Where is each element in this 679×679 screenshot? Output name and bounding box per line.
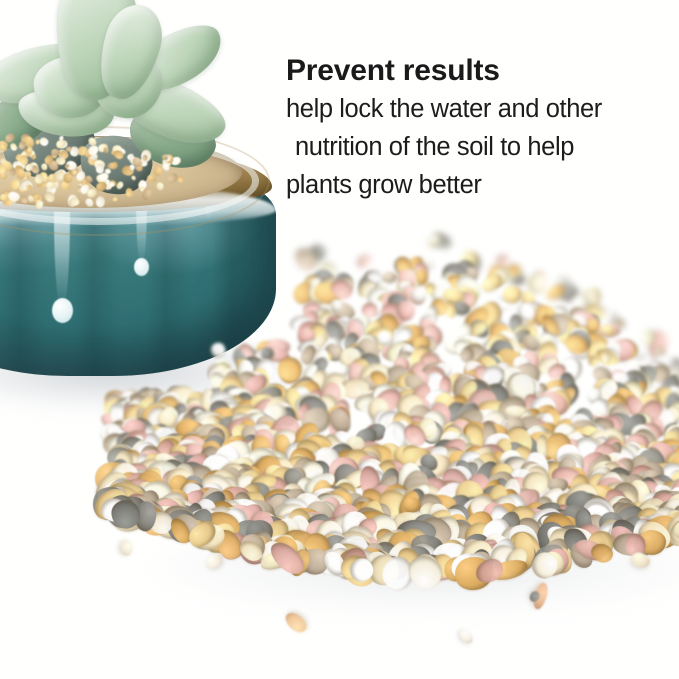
- gravel-pebble: [150, 493, 179, 522]
- gravel-pebble: [156, 430, 185, 459]
- gravel-pebble: [328, 479, 359, 512]
- gravel-pebble: [642, 360, 669, 387]
- gravel-pebble: [421, 360, 447, 379]
- gravel-pebble: [427, 402, 452, 431]
- gravel-pebble: [269, 399, 297, 426]
- gravel-pebble: [120, 435, 144, 461]
- gravel-pebble: [532, 427, 557, 451]
- gravel-pebble: [235, 510, 268, 531]
- gravel-pebble: [573, 434, 597, 458]
- gravel-pebble: [491, 359, 514, 383]
- gravel-pebble: [230, 486, 265, 515]
- gravel-pebble: [371, 457, 398, 486]
- gravel-pebble: [487, 502, 516, 538]
- gravel-pebble: [321, 486, 355, 519]
- gravel-pebble: [366, 422, 388, 442]
- gravel-pebble: [295, 308, 322, 339]
- gravel-pebble: [420, 477, 449, 507]
- gravel-pebble: [297, 338, 325, 355]
- gravel-pebble: [496, 446, 527, 477]
- gravel-pebble: [557, 493, 580, 512]
- gravel-pebble: [248, 391, 281, 418]
- gravel-pebble: [106, 421, 130, 444]
- gravel-pebble: [358, 484, 389, 515]
- gravel-pebble: [308, 242, 328, 263]
- gravel-pebble: [431, 389, 459, 416]
- gravel-pebble: [343, 492, 366, 519]
- gravel-pebble: [289, 454, 319, 484]
- gravel-pebble: [624, 372, 637, 391]
- gravel-pebble: [336, 510, 371, 545]
- gravel-pebble: [546, 361, 568, 381]
- gravel-pebble: [274, 490, 303, 518]
- gravel-pebble: [120, 427, 154, 460]
- gravel-pebble: [642, 445, 663, 465]
- gravel-pebble: [266, 491, 296, 519]
- gravel-pebble: [663, 422, 679, 441]
- gravel-pebble: [610, 511, 648, 551]
- gravel-pebble: [318, 512, 354, 547]
- gravel-pebble: [143, 478, 174, 509]
- gravel-pebble: [291, 434, 328, 471]
- gravel-pebble: [485, 265, 509, 290]
- gravel-pebble: [397, 466, 433, 506]
- gravel-pebble: [567, 321, 592, 346]
- gravel-pebble: [351, 500, 376, 534]
- gravel-pebble: [664, 447, 679, 489]
- gravel-pebble: [629, 513, 657, 544]
- gravel-pebble: [105, 494, 146, 535]
- gravel-pebble: [543, 436, 573, 466]
- gravel-pebble: [506, 499, 531, 524]
- gravel-pebble: [394, 254, 415, 277]
- gravel-pebble: [206, 507, 231, 534]
- gravel-pebble: [199, 388, 216, 416]
- gravel-pebble: [460, 322, 473, 338]
- gravel-pebble: [408, 538, 445, 575]
- gravel-pebble: [560, 524, 592, 557]
- gravel-pebble: [480, 338, 508, 356]
- gravel-pebble: [248, 375, 272, 400]
- gravel-pebble: [503, 438, 530, 463]
- gravel-pebble: [511, 320, 541, 351]
- gravel-pebble: [425, 501, 457, 542]
- gravel-pebble: [535, 547, 569, 581]
- gravel-pebble: [567, 326, 595, 354]
- gravel-pebble: [492, 390, 530, 428]
- gravel-pebble: [416, 333, 439, 357]
- gravel-pebble: [459, 529, 493, 563]
- gravel-pebble: [93, 460, 132, 494]
- gravel-pebble: [366, 286, 392, 308]
- gravel-pebble: [439, 435, 472, 468]
- gravel-pebble: [430, 506, 473, 550]
- gravel-pebble: [151, 390, 182, 417]
- gravel-pebble: [460, 357, 488, 386]
- gravel-pebble: [163, 464, 195, 494]
- gravel-pebble: [604, 309, 619, 324]
- gravel-pebble: [665, 373, 679, 385]
- gravel-pebble: [390, 467, 408, 483]
- gravel-pebble: [323, 371, 349, 396]
- gravel-pebble: [441, 488, 478, 519]
- gravel-pebble: [182, 504, 217, 541]
- gravel-pebble: [104, 481, 145, 515]
- gravel-pebble: [89, 466, 136, 514]
- gravel-pebble: [489, 459, 519, 489]
- gravel-pebble: [599, 323, 615, 337]
- gravel-pebble: [354, 456, 388, 489]
- gravel-pebble: [448, 461, 470, 484]
- gravel-pebble: [105, 478, 138, 510]
- gravel-pebble: [279, 451, 315, 486]
- gravel-pebble: [348, 518, 376, 541]
- gravel-pebble: [174, 403, 207, 437]
- gravel-pebble: [398, 441, 428, 472]
- gravel-pebble: [532, 508, 570, 543]
- gravel-pebble: [192, 487, 223, 520]
- gravel-pebble: [287, 508, 311, 539]
- gravel-pebble: [228, 395, 261, 426]
- gravel-pebble: [561, 491, 597, 528]
- gravel-pebble: [472, 362, 494, 384]
- gravel-pebble: [378, 288, 409, 315]
- gravel-pebble: [98, 411, 125, 436]
- gravel-pebble: [649, 486, 679, 522]
- gravel-pebble: [208, 487, 239, 522]
- gravel-pebble: [261, 487, 294, 518]
- gravel-pebble: [242, 498, 276, 522]
- gravel-pebble: [581, 420, 613, 452]
- gravel-pebble: [339, 444, 377, 482]
- gravel-pebble: [351, 504, 384, 536]
- gravel-pebble: [668, 359, 679, 380]
- gravel-pebble: [366, 361, 401, 393]
- gravel-pebble: [310, 478, 335, 506]
- gravel-pebble: [395, 488, 422, 521]
- gravel-pebble: [668, 469, 679, 489]
- gravel-pebble: [543, 385, 576, 418]
- gravel-pebble: [404, 358, 431, 384]
- gravel-pebble: [197, 484, 230, 519]
- gravel-pebble: [123, 418, 146, 439]
- gravel-pebble: [137, 448, 164, 469]
- gravel-pebble: [443, 391, 471, 420]
- gravel-pebble: [357, 499, 384, 534]
- gravel-pebble: [462, 443, 487, 466]
- gravel-pebble: [392, 512, 426, 540]
- gravel-pebble: [491, 493, 518, 520]
- gravel-pebble: [463, 422, 491, 450]
- gravel-pebble: [471, 448, 503, 481]
- gravel-pebble: [421, 503, 460, 543]
- gravel-pebble: [379, 362, 410, 392]
- gravel-pebble: [629, 516, 666, 553]
- gravel-pebble: [562, 490, 591, 519]
- gravel-pebble: [153, 438, 179, 475]
- gravel-pebble: [215, 460, 249, 492]
- gravel-pebble: [620, 477, 656, 511]
- gravel-pebble: [468, 540, 498, 571]
- gravel-pebble: [530, 540, 570, 577]
- gravel-pebble: [235, 464, 263, 493]
- gravel-pebble: [324, 342, 346, 364]
- gravel-pebble: [361, 373, 384, 392]
- gravel-pebble: [222, 436, 246, 462]
- gravel-pebble: [145, 483, 173, 510]
- gravel-pebble: [518, 415, 534, 434]
- gravel-pebble: [150, 434, 177, 459]
- gravel-pebble: [494, 534, 542, 580]
- gravel-pebble: [603, 473, 631, 501]
- gravel-pebble: [204, 413, 228, 434]
- gravel-pebble: [396, 278, 413, 294]
- gravel-pebble: [133, 498, 164, 531]
- gravel-pebble: [490, 456, 522, 487]
- gravel-pebble: [258, 545, 297, 573]
- gravel-pebble: [639, 461, 661, 488]
- gravel-pebble: [337, 552, 367, 583]
- gravel-pebble: [556, 455, 578, 481]
- gravel-pebble: [326, 440, 356, 468]
- gravel-pebble: [505, 457, 533, 477]
- gravel-pebble: [532, 338, 560, 370]
- gravel-pebble: [186, 431, 210, 454]
- gravel-pebble: [591, 375, 620, 405]
- gravel-pebble: [503, 525, 546, 568]
- gravel-pebble: [638, 458, 677, 495]
- gravel-pile-shadow: [150, 520, 679, 615]
- gravel-pebble: [504, 418, 526, 437]
- gravel-pebble: [630, 387, 666, 423]
- gravel-pebble: [237, 418, 259, 448]
- gravel-pebble: [542, 504, 578, 540]
- gravel-pebble: [453, 373, 475, 397]
- gravel-pebble: [374, 484, 416, 524]
- gravel-pebble: [443, 510, 472, 539]
- gravel-pebble: [605, 393, 629, 421]
- gravel-pebble: [511, 446, 533, 467]
- gravel-pebble: [399, 544, 432, 579]
- gravel-pebble: [418, 451, 441, 474]
- stray-pebble: [457, 627, 475, 646]
- gravel-pebble: [607, 335, 637, 365]
- gravel-pebble: [324, 371, 349, 393]
- gravel-pebble: [262, 382, 289, 417]
- gravel-pebble: [203, 404, 236, 435]
- gravel-pebble: [398, 253, 427, 282]
- gravel-pebble: [467, 538, 487, 568]
- gravel-pebble: [205, 386, 243, 422]
- gravel-pebble: [539, 312, 562, 338]
- gravel-pebble: [432, 541, 468, 568]
- gravel-pebble: [545, 423, 572, 448]
- gravel-pebble: [483, 368, 505, 391]
- gravel-pebble: [424, 366, 447, 389]
- gravel-pebble: [89, 483, 134, 526]
- gravel-pebble: [634, 501, 665, 536]
- gravel-pebble: [430, 231, 453, 252]
- gravel-pebble: [402, 395, 433, 424]
- gravel-pebble: [186, 509, 223, 544]
- gravel-pebble: [253, 511, 281, 538]
- gravel-pebble: [206, 397, 233, 424]
- gravel-pebble: [596, 466, 617, 489]
- gravel-pebble: [153, 486, 191, 524]
- gravel-pebble: [362, 498, 395, 531]
- gravel-pebble: [331, 485, 361, 510]
- gravel-pebble: [467, 442, 491, 472]
- gravel-pebble: [341, 432, 368, 459]
- gravel-pebble: [154, 388, 185, 418]
- gravel-pebble: [562, 503, 595, 536]
- gravel-pebble: [203, 496, 240, 533]
- gravel-pebble: [114, 479, 152, 516]
- gravel-pebble: [536, 456, 567, 487]
- gravel-pebble: [556, 316, 575, 334]
- gravel-pebble: [491, 508, 525, 548]
- gravel-pebble: [660, 449, 679, 479]
- gravel-pebble: [372, 524, 398, 551]
- glaze-drip-bead: [134, 258, 149, 276]
- gravel-pebble: [327, 405, 352, 440]
- gravel-pebble: [516, 458, 548, 493]
- gravel-pebble: [634, 446, 668, 481]
- gravel-pebble: [110, 477, 137, 516]
- gravel-pebble: [196, 468, 240, 511]
- gravel-pebble: [417, 368, 450, 401]
- gravel-pebble: [475, 417, 502, 444]
- gravel-pebble: [620, 410, 650, 440]
- gravel-pebble: [101, 393, 132, 424]
- gravel-pebble: [440, 426, 463, 454]
- gravel-pebble: [119, 496, 140, 528]
- gravel-pebble: [546, 518, 565, 543]
- gravel-pebble: [373, 405, 415, 446]
- gravel-pebble: [235, 459, 264, 486]
- gravel-pebble: [228, 408, 258, 441]
- gravel-pebble: [371, 537, 402, 568]
- gravel-pebble: [567, 326, 583, 343]
- gravel-pebble: [263, 410, 305, 454]
- gravel-pebble: [631, 453, 660, 482]
- gravel-pebble: [319, 487, 351, 513]
- gravel-pebble: [582, 316, 604, 338]
- gravel-pebble: [441, 287, 465, 307]
- gravel-pebble: [520, 421, 553, 454]
- gravel-pebble: [646, 502, 673, 531]
- gravel-pebble: [243, 480, 272, 507]
- gravel-pebble: [600, 459, 624, 485]
- gravel-pebble: [619, 518, 646, 542]
- gravel-pebble: [427, 274, 457, 304]
- gravel-pebble: [579, 493, 620, 532]
- gravel-pebble: [381, 419, 409, 453]
- gravel-pebble: [419, 516, 453, 550]
- gravel-pebble: [633, 362, 660, 388]
- gravel-pebble: [325, 486, 354, 523]
- gravel-pebble: [581, 423, 609, 448]
- gravel-pebble: [147, 502, 181, 535]
- gravel-pebble: [419, 312, 436, 327]
- gravel-pebble: [325, 404, 355, 436]
- gravel-pebble: [615, 440, 644, 465]
- gravel-pebble: [490, 485, 523, 520]
- gravel-pebble: [211, 526, 246, 564]
- gravel-pebble: [284, 442, 307, 464]
- gravel-pebble: [465, 385, 500, 418]
- gravel-pebble: [150, 442, 178, 470]
- gravel-pebble: [200, 518, 241, 559]
- gravel-pebble: [156, 500, 200, 542]
- gravel-pebble: [137, 403, 163, 427]
- gravel-pebble: [372, 471, 401, 499]
- gravel-pebble: [342, 514, 379, 535]
- gravel-pebble: [208, 485, 237, 513]
- gravel-pebble: [450, 459, 481, 487]
- gravel-pebble: [585, 287, 602, 306]
- gravel-pebble: [338, 378, 370, 399]
- gravel-pebble: [202, 451, 233, 483]
- gravel-pebble: [487, 516, 520, 550]
- gravel-pebble: [593, 436, 612, 454]
- gravel-pebble: [344, 380, 366, 401]
- gravel-pebble: [459, 495, 486, 522]
- gravel-pebble: [382, 272, 397, 283]
- gravel-pebble: [383, 536, 417, 573]
- gravel-pebble: [101, 483, 141, 513]
- gravel-pebble: [377, 465, 402, 494]
- gravel-pebble: [363, 547, 394, 583]
- gravel-pebble: [566, 538, 597, 571]
- gravel-pebble: [638, 460, 665, 488]
- gravel-pebble: [251, 454, 279, 483]
- gravel-pebble: [238, 410, 271, 448]
- gravel-pebble: [261, 398, 278, 422]
- gravel-pebble: [279, 407, 296, 427]
- gravel-pebble: [424, 443, 449, 464]
- gravel-pebble: [535, 484, 567, 514]
- gravel-pebble: [600, 518, 623, 539]
- gravel-pebble: [301, 431, 335, 464]
- gravel-pebble: [120, 400, 148, 429]
- gravel-pebble: [602, 432, 624, 455]
- gravel-pebble: [449, 404, 488, 439]
- gravel-pebble: [613, 338, 628, 352]
- gravel-pebble: [444, 300, 457, 318]
- gravel-pebble: [122, 399, 147, 422]
- gravel-pebble: [310, 516, 348, 554]
- gravel-pebble: [651, 480, 679, 509]
- gravel-pebble: [458, 417, 495, 453]
- gravel-pebble: [570, 473, 591, 501]
- gravel-pebble: [664, 464, 679, 486]
- gravel-pebble: [541, 442, 564, 460]
- gravel-pebble: [510, 273, 527, 287]
- gravel-pebble: [348, 493, 374, 520]
- gravel-pebble: [542, 317, 561, 335]
- gravel-pebble: [357, 464, 382, 499]
- gravel-pebble: [152, 433, 163, 450]
- gravel-pebble: [184, 460, 217, 494]
- gravel-pebble: [172, 463, 199, 492]
- gravel-pebble: [463, 358, 487, 381]
- gravel-pebble: [397, 300, 415, 320]
- gravel-pebble: [511, 539, 537, 566]
- gravel-pebble: [306, 487, 343, 526]
- gravel-pebble: [295, 506, 332, 543]
- gravel-pebble: [467, 536, 503, 570]
